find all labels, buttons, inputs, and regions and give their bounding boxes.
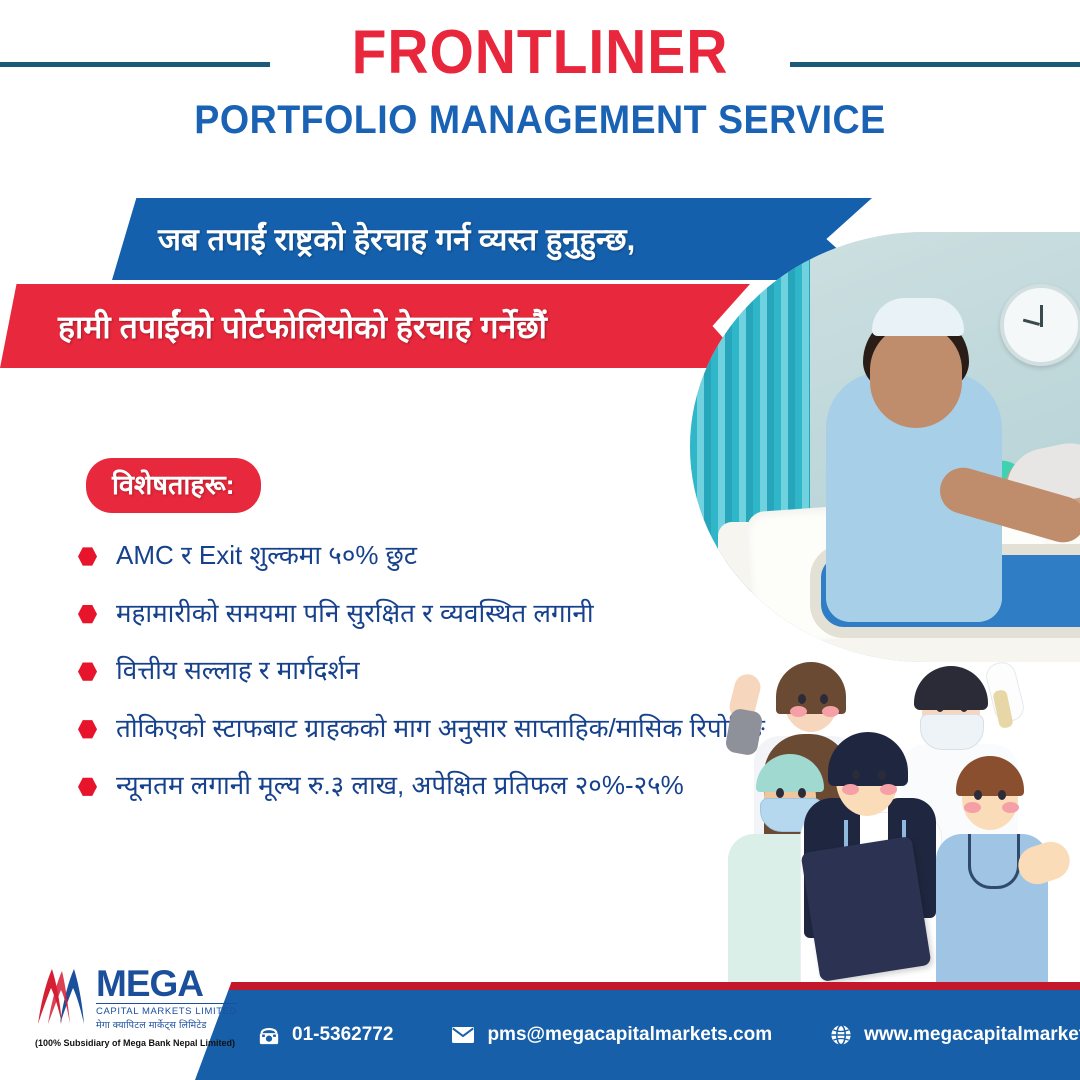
poster-header: FRONTLINER PORTFOLIO MANAGEMENT SERVICE (0, 0, 1080, 170)
envelope-icon (451, 1026, 475, 1044)
page-subtitle: PORTFOLIO MANAGEMENT SERVICE (32, 100, 1047, 140)
bullet-icon (78, 777, 97, 796)
logo-name: MEGA (96, 966, 237, 1002)
logo-tagline: CAPITAL MARKETS LIMITED (96, 1003, 237, 1017)
company-logo: MEGA CAPITAL MARKETS LIMITED मेगा क्यापि… (30, 958, 240, 1066)
list-item-label: न्यूनतम लगानी मूल्य रु.३ लाख, अपेक्षित प… (116, 768, 684, 803)
tagline-ribbon-red: हामी तपाईंको पोर्टफोलियोको हेरचाह गर्नेछ… (0, 284, 750, 368)
contact-phone-value: 01-5362772 (292, 1024, 393, 1046)
footer-contacts: 01-5362772 pms@megacapitalmarkets.com ww… (248, 990, 1080, 1080)
globe-icon (830, 1024, 852, 1046)
list-item-label: महामारीको समयमा पनि सुरक्षित र व्यवस्थित… (116, 596, 594, 631)
nurse-cap (872, 298, 964, 336)
clipboard-icon (801, 836, 932, 982)
mega-logo-mark-icon (34, 966, 96, 1028)
list-item-label: AMC र Exit शुल्कमा ५०% छुट (116, 538, 417, 573)
features-heading: विशेषताहरू: (86, 458, 261, 513)
medical-team-illustration (718, 648, 1080, 988)
list-item-label: तोकिएको स्टाफबाट ग्राहकको माग अनुसार साप… (116, 711, 765, 746)
contact-email[interactable]: pms@megacapitalmarkets.com (451, 1024, 772, 1046)
phone-icon (258, 1024, 280, 1046)
bullet-icon (78, 662, 97, 681)
list-item: AMC र Exit शुल्कमा ५०% छुट (78, 538, 778, 573)
contact-phone[interactable]: 01-5362772 (258, 1024, 393, 1046)
list-item: न्यूनतम लगानी मूल्य रु.३ लाख, अपेक्षित प… (78, 768, 778, 803)
wall-clock-icon (1000, 284, 1080, 366)
face-mask-icon (920, 714, 984, 750)
page-title: FRONTLINER (43, 22, 1037, 84)
tagline-blue-text: जब तपाईं राष्ट्रको हेरचाह गर्न व्यस्त हु… (158, 218, 635, 260)
list-item: वित्तीय सल्लाह र मार्गदर्शन (78, 653, 778, 688)
list-item: महामारीको समयमा पनि सुरक्षित र व्यवस्थित… (78, 596, 778, 631)
contact-email-value: pms@megacapitalmarkets.com (487, 1024, 772, 1046)
list-item: तोकिएको स्टाफबाट ग्राहकको माग अनुसार साप… (78, 711, 778, 746)
nurse-head (870, 324, 962, 428)
bullet-icon (78, 547, 97, 566)
features-list: AMC र Exit शुल्कमा ५०% छुट महामारीको समय… (78, 538, 778, 826)
list-item-label: वित्तीय सल्लाह र मार्गदर्शन (116, 653, 360, 688)
contact-website-value: www.megacapitalmarkets.com (864, 1024, 1080, 1046)
logo-subsidiary-note: (100% Subsidiary of Mega Bank Nepal Limi… (30, 1038, 240, 1048)
logo-tagline-nepali: मेगा क्यापिटल मार्केट्स लिमिटेड (96, 1018, 237, 1031)
poster-canvas: FRONTLINER PORTFOLIO MANAGEMENT SERVICE … (0, 0, 1080, 1080)
logo-wordmark: MEGA CAPITAL MARKETS LIMITED मेगा क्यापि… (96, 966, 237, 1031)
bullet-icon (78, 720, 97, 739)
tagline-red-text: हामी तपाईंको पोर्टफोलियोको हेरचाह गर्नेछ… (58, 305, 547, 348)
bullet-icon (78, 605, 97, 624)
contact-website[interactable]: www.megacapitalmarkets.com (830, 1024, 1080, 1046)
